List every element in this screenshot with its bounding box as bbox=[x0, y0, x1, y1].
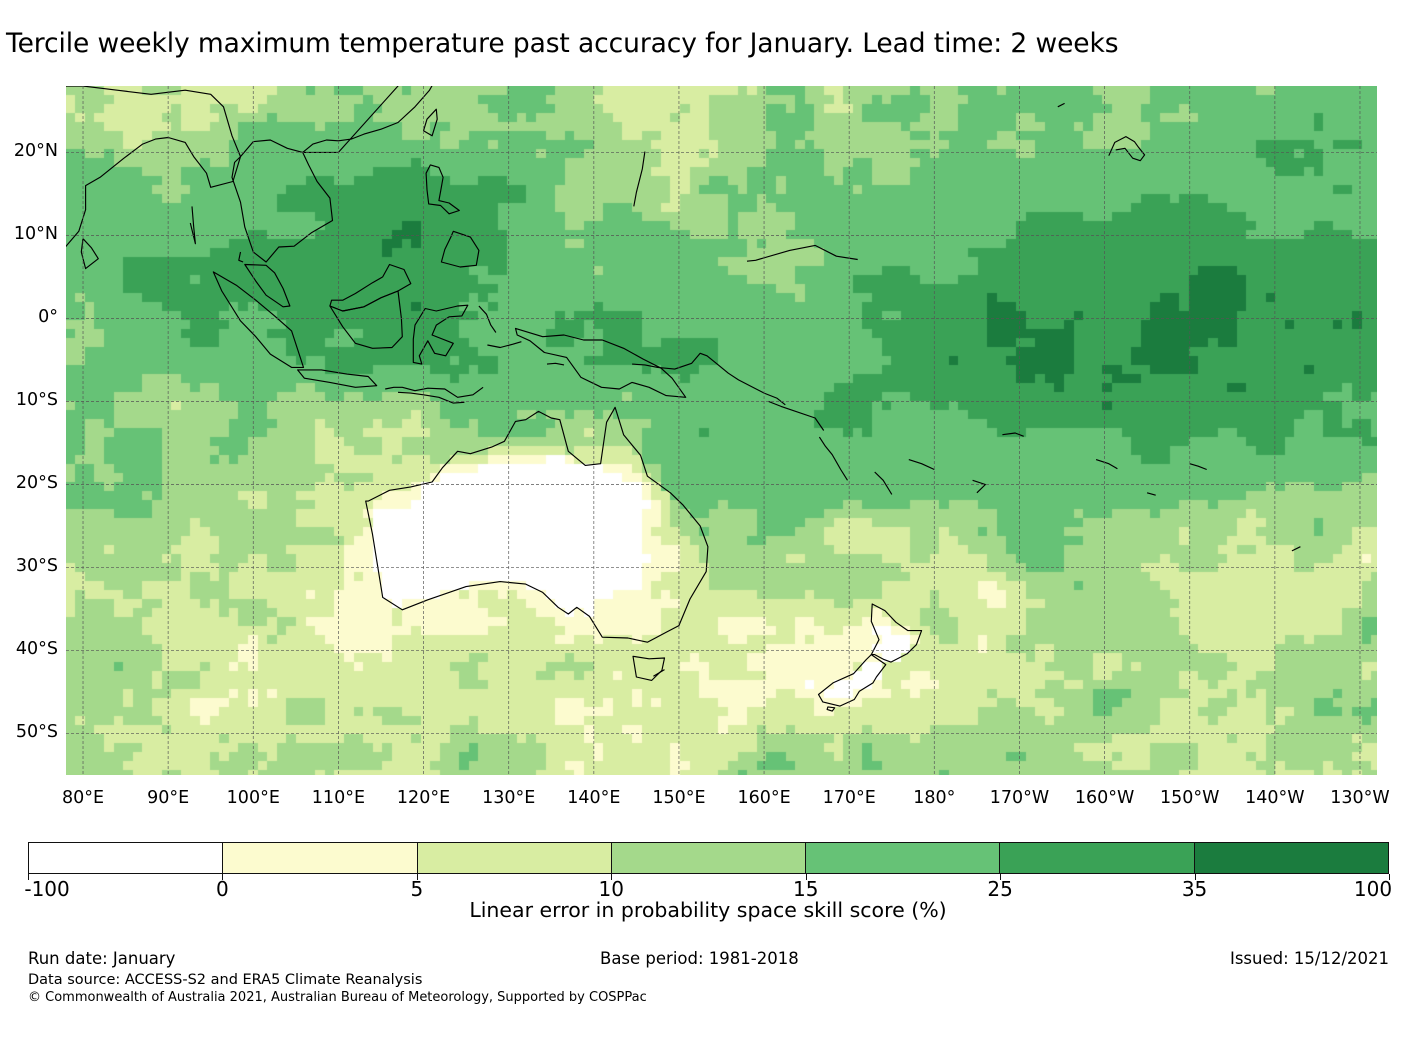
map-plot-area[interactable] bbox=[66, 86, 1377, 775]
longitude-tick-label: 170°E bbox=[823, 788, 876, 808]
footer-base-period: Base period: 1981-2018 bbox=[600, 949, 799, 968]
longitude-tick-label: 90°E bbox=[147, 788, 189, 808]
longitude-tick-label: 80°E bbox=[62, 788, 104, 808]
colorbar-segment bbox=[29, 843, 223, 873]
longitude-tick-label: 160°W bbox=[1075, 788, 1134, 808]
colorbar-segment bbox=[1195, 843, 1388, 873]
longitude-tick-label: 170°W bbox=[990, 788, 1049, 808]
footer-copyright: © Commonwealth of Australia 2021, Austra… bbox=[28, 990, 647, 1005]
longitude-tick-label: 100°E bbox=[227, 788, 280, 808]
colorbar-label: Linear error in probability space skill … bbox=[0, 898, 1416, 922]
latitude-tick-label: 30°S bbox=[0, 556, 58, 576]
latitude-tick-label: 40°S bbox=[0, 639, 58, 659]
longitude-tick-label: 130°W bbox=[1330, 788, 1389, 808]
longitude-tick-label: 130°E bbox=[482, 788, 535, 808]
figure-title: Tercile weekly maximum temperature past … bbox=[6, 28, 1410, 59]
longitude-tick-label: 110°E bbox=[312, 788, 365, 808]
colorbar[interactable] bbox=[28, 842, 1389, 874]
footer-issued-date: Issued: 15/12/2021 bbox=[1230, 949, 1389, 968]
longitude-tick-label: 150°W bbox=[1160, 788, 1219, 808]
latitude-tick-label: 20°N bbox=[0, 141, 58, 161]
colorbar-segment bbox=[223, 843, 417, 873]
figure-canvas: Tercile weekly maximum temperature past … bbox=[0, 0, 1416, 1050]
footer-data-source: Data source: ACCESS-S2 and ERA5 Climate … bbox=[28, 972, 422, 988]
graticule-grid bbox=[66, 86, 1377, 775]
longitude-tick-label: 120°E bbox=[397, 788, 450, 808]
colorbar-segment bbox=[1000, 843, 1194, 873]
colorbar-segment bbox=[806, 843, 1000, 873]
longitude-tick-label: 160°E bbox=[737, 788, 790, 808]
colorbar-segment bbox=[612, 843, 806, 873]
footer-run-date: Run date: January bbox=[28, 949, 175, 968]
latitude-tick-label: 0° bbox=[0, 307, 58, 327]
longitude-tick-label: 180° bbox=[913, 788, 955, 808]
longitude-tick-label: 140°W bbox=[1245, 788, 1304, 808]
latitude-tick-label: 10°S bbox=[0, 390, 58, 410]
longitude-tick-label: 150°E bbox=[652, 788, 705, 808]
colorbar-segment bbox=[418, 843, 612, 873]
latitude-tick-label: 50°S bbox=[0, 722, 58, 742]
longitude-tick-label: 140°E bbox=[567, 788, 620, 808]
latitude-tick-label: 10°N bbox=[0, 224, 58, 244]
latitude-tick-label: 20°S bbox=[0, 473, 58, 493]
